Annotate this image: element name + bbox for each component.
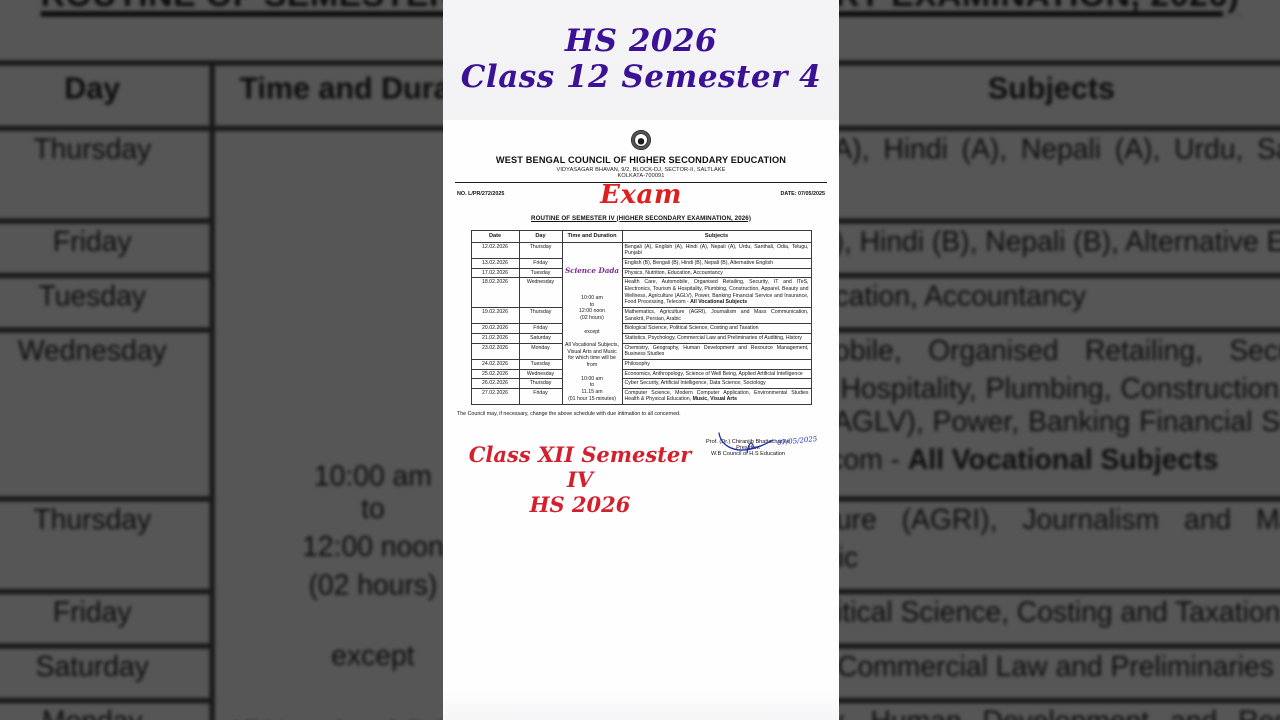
cell-day: Friday	[0, 220, 209, 275]
cell-date: 19.02.2026	[471, 307, 519, 323]
cell-subjects: Computer Science, Modern Computer Applic…	[622, 388, 811, 404]
cell-subjects: Economics, Anthropology, Science of Well…	[622, 369, 811, 379]
table-row: 13.02.2026FridayEnglish (B), Bengali (B)…	[471, 258, 811, 268]
th-date: Date	[471, 230, 519, 242]
org-city: KOLKATA-700091	[455, 173, 827, 179]
cell-date: 18.02.2026	[471, 278, 519, 308]
cell-day: Tuesday	[519, 268, 562, 278]
cell-day: Friday	[0, 593, 209, 648]
cell-day: Wednesday	[519, 369, 562, 379]
cell-day: Monday	[0, 703, 209, 720]
council-note: The Council may, if necessary, change th…	[457, 411, 827, 417]
table-row: 18.02.2026WednesdayHealth Care, Automobi…	[471, 278, 811, 308]
cell-day: Friday	[519, 324, 562, 334]
table-row: 27.02.2026FridayComputer Science, Modern…	[471, 388, 811, 404]
routine-heading: ROUTINE OF SEMESTER IV (HIGHER SECONDARY…	[455, 215, 827, 222]
table-row: 21.02.2026SaturdayStatistics, Psychology…	[471, 333, 811, 343]
exam-stamp-overlay: Exam	[600, 180, 682, 210]
council-seal-icon	[631, 130, 651, 150]
cell-day: Thursday	[519, 307, 562, 323]
table-row: 19.02.2026ThursdayMathematics, Agricultu…	[471, 307, 811, 323]
table-row: 12.02.2026ThursdayScience Dada10:00 amto…	[471, 242, 811, 258]
cell-day: Thursday	[519, 379, 562, 389]
overlay-title-line1: HS 2026	[443, 24, 839, 60]
watermark-science-dada: Science Dada	[565, 266, 620, 275]
cell-subjects: Mathematics, Agriculture (AGRI), Journal…	[622, 307, 811, 323]
overlay-top-title: HS 2026 Class 12 Semester 4	[443, 24, 839, 96]
cell-time-and-duration: Science Dada10:00 amto12:00 noon(02 hour…	[562, 242, 622, 404]
cell-day: Thursday	[0, 127, 209, 220]
bg-th-day: Day	[0, 60, 209, 126]
cell-date: 25.02.2026	[471, 369, 519, 379]
cell-day: Friday	[519, 388, 562, 404]
cell-day: Wednesday	[0, 330, 209, 499]
time-block-main: 10:00 amto12:00 noon(02 hours)	[565, 295, 620, 322]
cell-day: Thursday	[519, 242, 562, 258]
cell-date: 23.02.2026	[471, 343, 519, 359]
cell-day: Tuesday	[519, 359, 562, 369]
cell-date: 13.02.2026	[471, 258, 519, 268]
cell-subjects: Chemistry, Geography, Human Development …	[622, 343, 811, 359]
cell-date: 24.02.2026	[471, 359, 519, 369]
org-name: WEST BENGAL COUNCIL OF HIGHER SECONDARY …	[455, 155, 827, 165]
cell-date: 20.02.2026	[471, 324, 519, 334]
cell-subjects: Biological Science, Political Science, C…	[622, 324, 811, 334]
routine-table: Date Day Time and Duration Subjects 12.0…	[471, 230, 812, 406]
cell-day: Friday	[519, 258, 562, 268]
table-header-row: Date Day Time and Duration Subjects	[471, 230, 811, 242]
time-except-label: except	[565, 329, 620, 336]
cell-subjects: Bengali (A), English (A), Hindi (A), Nep…	[622, 242, 811, 258]
cell-day: Wednesday	[519, 278, 562, 308]
memo-row: NO. L/PR/272/2025 Exam DATE: 07/05/2025	[455, 185, 827, 211]
cell-subjects: Physics, Nutrition, Education, Accountan…	[622, 268, 811, 278]
cell-date: 12.02.2026	[471, 242, 519, 258]
cell-day: Thursday	[0, 500, 209, 593]
cell-day: Saturday	[0, 648, 209, 703]
cell-date: 27.02.2026	[471, 388, 519, 404]
table-row: 23.02.2026MondayChemistry, Geography, Hu…	[471, 343, 811, 359]
th-day: Day	[519, 230, 562, 242]
time-block-vocational: 10:00 amto11.15 am(01 hour 15 minutes)	[565, 376, 620, 403]
cell-day: Monday	[519, 343, 562, 359]
overlay-footer-line2: HS 2026	[455, 493, 705, 518]
document-sheet: WEST BENGAL COUNCIL OF HIGHER SECONDARY …	[443, 120, 839, 685]
signature-area: Class XII Semester IV HS 2026 07/05/2025…	[455, 419, 827, 505]
cell-subjects: Statistics, Psychology, Commercial Law a…	[622, 333, 811, 343]
table-row: 25.02.2026WednesdayEconomics, Anthropolo…	[471, 369, 811, 379]
cell-subjects: Philosophy	[622, 359, 811, 369]
table-row: 26.02.2026ThursdayCyber Security, Artifi…	[471, 379, 811, 389]
overlay-footer-line1: Class XII Semester IV	[455, 443, 705, 493]
cell-day: Saturday	[519, 333, 562, 343]
overlay-title-line2: Class 12 Semester 4	[443, 60, 839, 96]
table-row: 24.02.2026TuesdayPhilosophy	[471, 359, 811, 369]
cell-subjects: English (B), Bengali (B), Hindi (B), Nep…	[622, 258, 811, 268]
cell-date: 21.02.2026	[471, 333, 519, 343]
memo-no: NO. L/PR/272/2025	[457, 191, 504, 197]
table-row: 20.02.2026FridayBiological Science, Poli…	[471, 324, 811, 334]
overlay-bottom-title: Class XII Semester IV HS 2026	[455, 443, 705, 517]
th-subjects: Subjects	[622, 230, 811, 242]
cell-date: 17.02.2026	[471, 268, 519, 278]
cell-subjects: Health Care, Automobile, Organised Retai…	[622, 278, 811, 308]
signatory-block: 07/05/2025 Prof. (Dr.) Chiranjib Bhattac…	[673, 439, 823, 457]
screenshot-stage: WEST BENGAL COUNCIL OF HIGHER SECONDARY …	[0, 0, 1280, 720]
cell-date: 26.02.2026	[471, 379, 519, 389]
cell-day: Tuesday	[0, 275, 209, 330]
memo-date: DATE: 07/05/2025	[780, 191, 825, 197]
center-video-panel: HS 2026 Class 12 Semester 4 WEST BENGAL …	[443, 0, 839, 720]
cell-subjects: Cyber Security, Artificial Intelligence,…	[622, 379, 811, 389]
time-vocational-note: All Vocational Subjects, Visual Arts and…	[565, 342, 620, 369]
table-row: 17.02.2026TuesdayPhysics, Nutrition, Edu…	[471, 268, 811, 278]
th-time: Time and Duration	[562, 230, 622, 242]
